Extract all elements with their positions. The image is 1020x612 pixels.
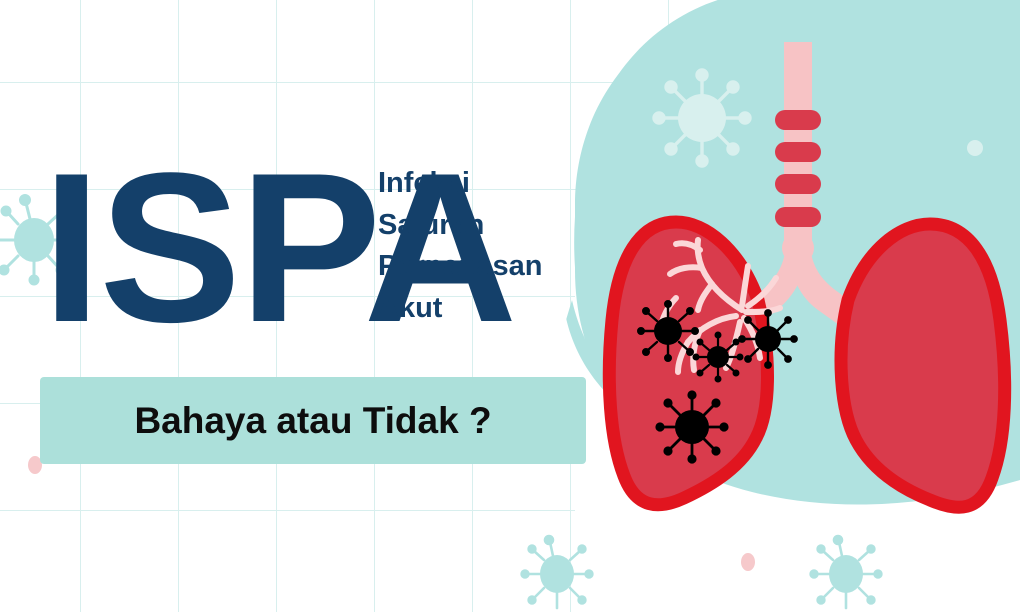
infographic-poster: ISPA Infeksi Saluran Pernapasan Akut Bah… [0,0,1020,612]
dot-white-blob [967,140,983,156]
virus-particle-4 [657,392,727,462]
subtitle-text: Infeksi Saluran Pernapasan Akut [378,163,542,329]
question-banner-label: Bahaya atau Tidak ? [40,377,586,464]
dot-pink-bottom [741,553,755,571]
right-lung-icon [841,224,1005,507]
virus-icon-bottom-right [811,536,882,608]
virus-icon-bottom-left [522,536,593,608]
question-banner: Bahaya atau Tidak ? [40,377,586,464]
virus-icon-blob [654,70,750,166]
virus-particle-1 [638,301,698,361]
virus-particle-3 [739,310,796,367]
virus-particle-2 [694,333,743,382]
